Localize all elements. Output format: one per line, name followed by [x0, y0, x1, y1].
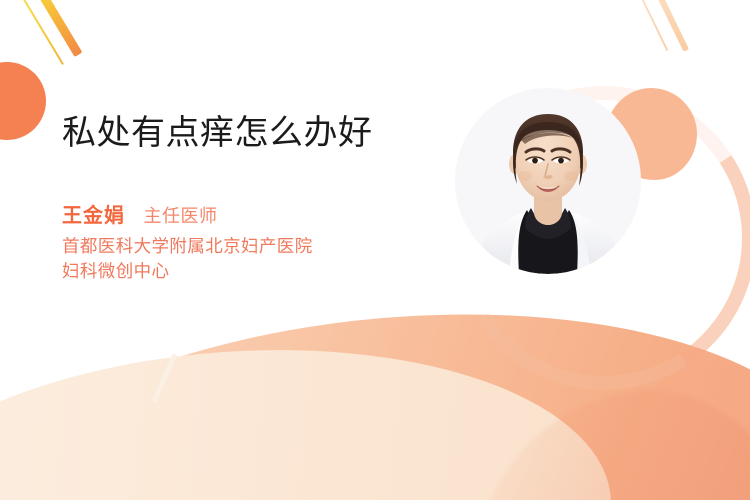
- bottom-right-shadow-lobe: [455, 373, 750, 500]
- diagonal-stripe-cream-icon: [152, 353, 178, 403]
- bottom-cream-wave: [0, 325, 620, 500]
- text-block: 私处有点痒怎么办好 王金娟 主任医师 首都医科大学附属北京妇产医院 妇科微创中心: [62, 112, 410, 283]
- orange-circle-decoration: [0, 62, 46, 140]
- diagonal-stripe-pale-thin-icon: [638, 0, 669, 51]
- doctor-portrait: [455, 88, 641, 274]
- bottom-salmon-wave: [0, 278, 750, 500]
- diagonal-stripe-orange-icon: [37, 0, 83, 57]
- doctor-name: 王金娟: [62, 205, 125, 227]
- diagonal-stripe-yellow-icon: [22, 0, 64, 65]
- doctor-name-row: 王金娟 主任医师: [62, 199, 410, 228]
- page-title: 私处有点痒怎么办好: [62, 112, 410, 155]
- doctor-department: 妇科微创中心: [62, 259, 410, 283]
- doctor-video-thumbnail: 私处有点痒怎么办好 王金娟 主任医师 首都医科大学附属北京妇产医院 妇科微创中心: [0, 0, 750, 500]
- diagonal-stripe-pale-thick-icon: [653, 0, 689, 52]
- doctor-hospital: 首都医科大学附属北京妇产医院: [62, 234, 410, 258]
- doctor-professional-title: 主任医师: [143, 206, 217, 226]
